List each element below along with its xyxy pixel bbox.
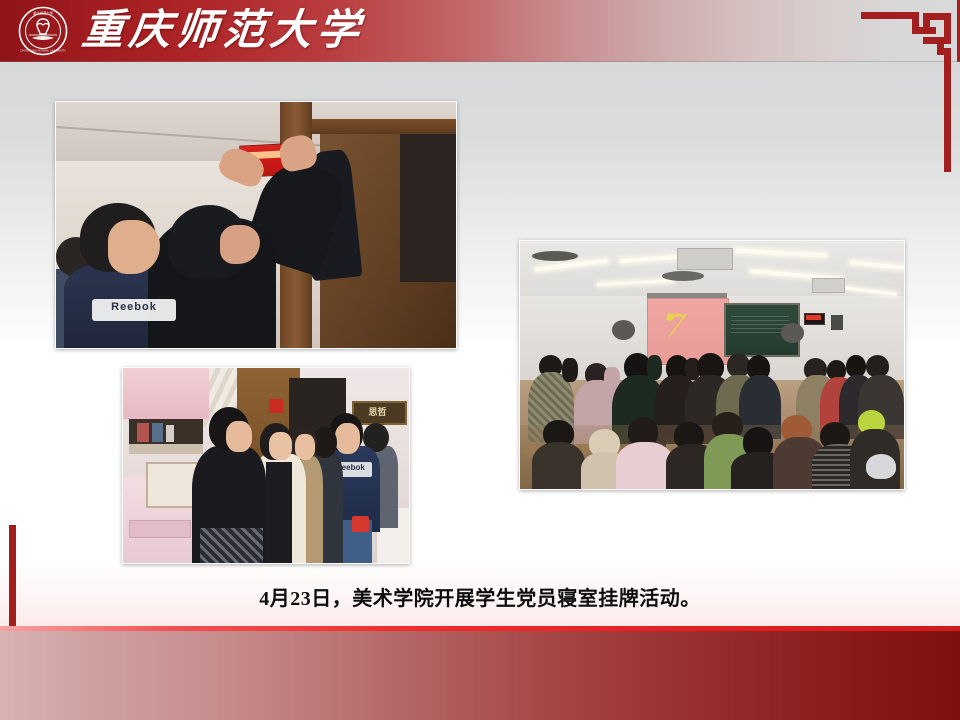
party-emblem-icon <box>662 308 693 340</box>
chinese-corner-ornament-top-right <box>861 12 951 177</box>
bottom-band-fill <box>0 631 960 720</box>
slide-caption: 4月23日，美术学院开展学生党员寝室挂牌活动。 <box>0 582 960 611</box>
photo-dorm-visit: 思哲 Reebok <box>122 367 410 564</box>
door-sign-text: 思哲 <box>358 405 398 415</box>
university-wordmark: 重庆师范大学 <box>79 4 367 58</box>
university-seal-logo: 重庆师范大学 CHONGQING NORMAL UNIVERSITY <box>18 6 68 56</box>
header-underline <box>0 61 960 62</box>
svg-text:CHONGQING NORMAL UNIVERSITY: CHONGQING NORMAL UNIVERSITY <box>20 49 66 53</box>
photo-oath-classroom <box>519 240 905 490</box>
bottom-decorative-band <box>0 626 960 720</box>
presentation-slide: 重庆师范大学 CHONGQING NORMAL UNIVERSITY 重庆师范大… <box>0 0 960 720</box>
photo-hanging-plaque: Reebok <box>55 101 457 349</box>
svg-text:重庆师范大学: 重庆师范大学 <box>33 10 53 15</box>
jersey-brand-text: Reebok <box>92 299 176 321</box>
